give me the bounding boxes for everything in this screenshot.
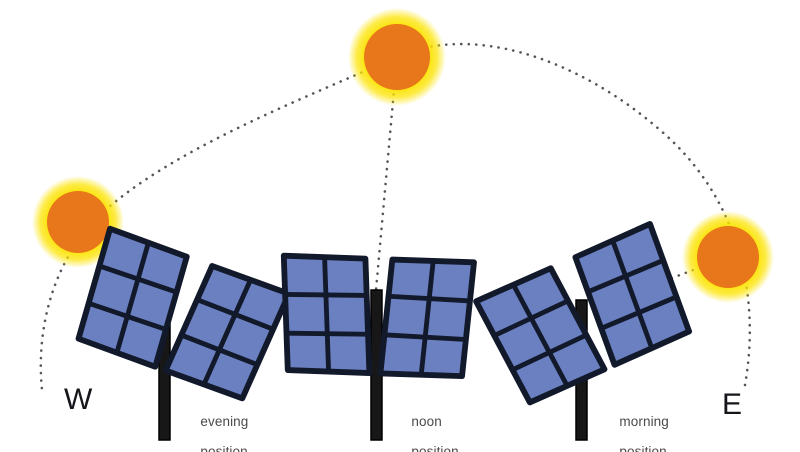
panel-label-morning-line2: position <box>619 444 666 452</box>
panel-label-noon-line1: noon <box>411 414 441 429</box>
panel-head <box>69 223 291 406</box>
panel-label-noon: noon position <box>396 399 459 452</box>
diagram-canvas <box>0 0 800 452</box>
panel-evening <box>69 223 291 440</box>
panel-label-morning-line1: morning <box>619 414 668 429</box>
sun-core <box>697 226 759 288</box>
panel-label-morning: morning position <box>604 399 669 452</box>
panel-label-evening: evening position <box>185 399 248 452</box>
panel-label-evening-line1: evening <box>200 414 248 429</box>
panel-label-evening-line2: position <box>200 444 247 452</box>
panel-label-noon-line2: position <box>411 444 458 452</box>
compass-label-east: E <box>722 390 742 420</box>
compass-label-west: W <box>64 385 92 415</box>
sun-core <box>47 191 109 253</box>
sun-core <box>364 24 430 90</box>
sun-noon-top <box>348 8 446 106</box>
solar-tracker-diagram: W E evening position noon position morni… <box>0 0 800 452</box>
sun-morning-east <box>682 211 774 303</box>
